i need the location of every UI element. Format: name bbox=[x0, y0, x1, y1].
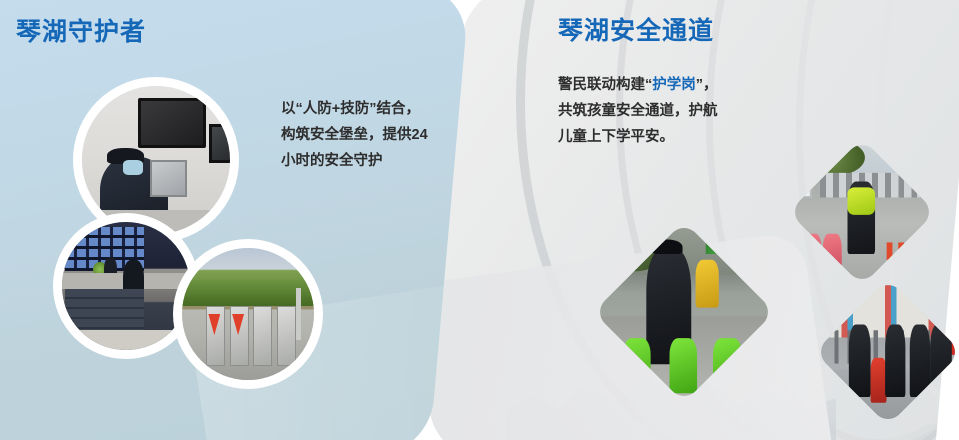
slide-root: 琴湖守护者 以“人防+技防”结合， 构筑安全堡垒，提供24 小时的安全守护 琴湖… bbox=[0, 0, 959, 440]
right-body-segment-1: 警民联动构建“ bbox=[558, 77, 652, 93]
hedge-row bbox=[182, 280, 314, 306]
left-section-title: 琴湖守护者 bbox=[16, 20, 146, 45]
right-body-highlight: 护学岗 bbox=[652, 77, 696, 93]
guard-face-mask bbox=[123, 160, 142, 175]
police-officer-figure bbox=[909, 325, 930, 397]
photo-entrance-turnstiles bbox=[182, 248, 314, 380]
turnstile-gate bbox=[277, 306, 296, 366]
child-figure bbox=[870, 358, 887, 403]
desk-monitor bbox=[150, 160, 187, 197]
right-section-body: 警民联动构建“护学岗”，共筑孩童安全通道，护航儿童上下学平安。 bbox=[558, 72, 720, 150]
hi-vis-vest bbox=[847, 188, 876, 215]
police-officer-figure bbox=[885, 325, 906, 397]
yellow-coat-figure bbox=[695, 260, 719, 308]
photo-fill bbox=[82, 86, 230, 234]
turnstile-gate bbox=[253, 306, 272, 366]
left-body-line-2: 构筑安全堡垒，提供24 bbox=[281, 122, 451, 148]
left-body-line-1: 以“人防+技防”结合， bbox=[281, 96, 451, 122]
right-section-title: 琴湖安全通道 bbox=[558, 19, 714, 44]
left-section-body: 以“人防+技防”结合， 构筑安全堡垒，提供24 小时的安全守护 bbox=[281, 96, 451, 174]
left-body-line-3: 小时的安全守护 bbox=[281, 148, 451, 174]
photo-fill bbox=[62, 222, 190, 350]
photo-fill bbox=[182, 248, 314, 380]
student-green-backpack bbox=[669, 338, 697, 394]
counter-cabinets bbox=[65, 289, 144, 330]
police-officer-figure bbox=[849, 325, 870, 397]
photo-guard-monitoring-desk bbox=[82, 86, 230, 234]
photo-control-room bbox=[62, 222, 190, 350]
sign-post bbox=[296, 288, 301, 341]
floor-tiles bbox=[62, 330, 190, 350]
